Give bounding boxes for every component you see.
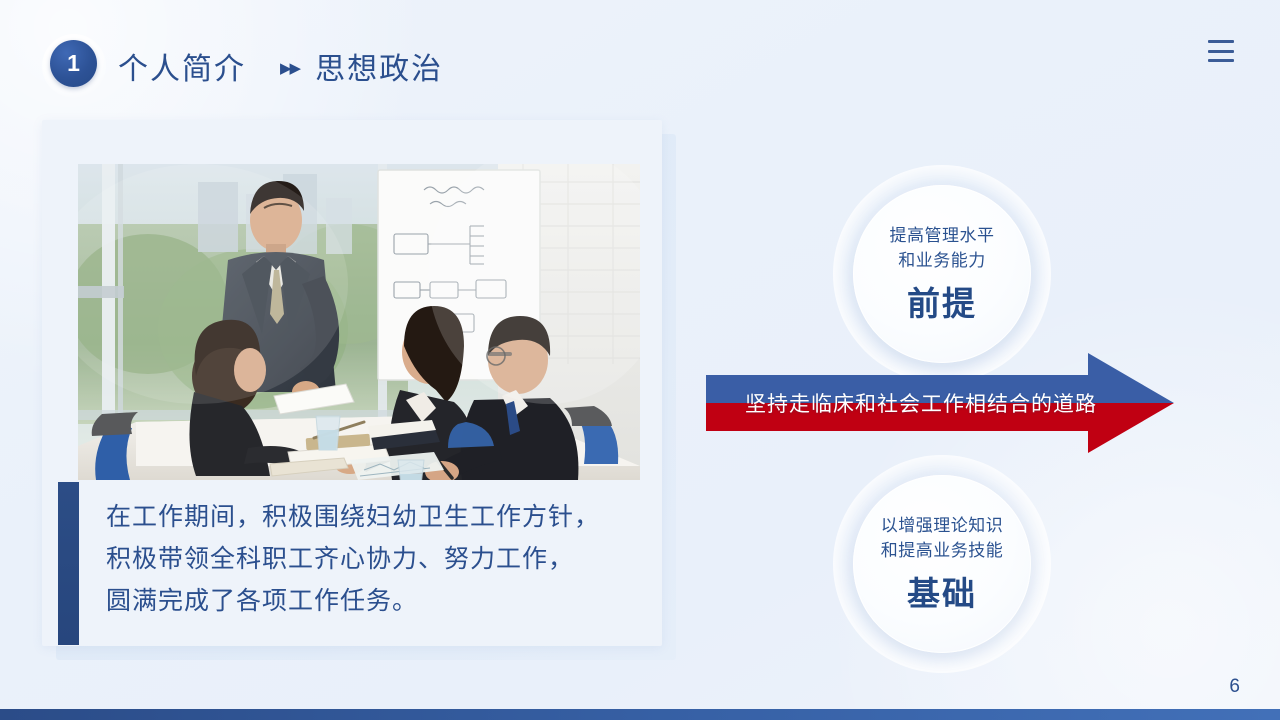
- double-chevron-right-icon: ▶▶: [280, 61, 299, 76]
- hamburger-menu-icon[interactable]: [1208, 40, 1234, 62]
- body-text-line-3: 圆满完成了各项工作任务。: [106, 580, 636, 622]
- footer-accent-bar: [0, 709, 1280, 720]
- badge-number: 1: [50, 40, 97, 87]
- menu-bar-3: [1208, 59, 1234, 62]
- page-subtitle: 思想政治: [315, 44, 443, 88]
- arrow-banner[interactable]: 坚持走临床和社会工作相结合的道路: [706, 353, 1174, 453]
- page-number: 6: [1229, 676, 1240, 698]
- body-text-line-1: 在工作期间，积极围绕妇幼卫生工作方针，: [106, 496, 636, 538]
- body-text-accent-bar: [58, 482, 79, 645]
- circle-subtitle: 提高管理水平 和业务能力: [890, 223, 995, 273]
- circle-keyword: 前提: [907, 277, 977, 325]
- slide-canvas: 1 个人简介 ▶▶ 思想政治: [0, 0, 1280, 720]
- arrow-label: 坚持走临床和社会工作相结合的道路: [706, 353, 1136, 453]
- concept-circle-premise[interactable]: 提高管理水平 和业务能力 前提: [833, 165, 1051, 383]
- menu-bar-2: [1208, 50, 1234, 53]
- circle-inner-disc: 提高管理水平 和业务能力 前提: [853, 185, 1031, 363]
- circle-keyword: 基础: [907, 567, 977, 615]
- breadcrumb: 个人简介 ▶▶ 思想政治: [118, 43, 443, 89]
- section-number-badge: 1: [42, 34, 106, 98]
- body-text-line-2: 积极带领全科职工齐心协力、努力工作，: [106, 538, 636, 580]
- concept-circle-foundation[interactable]: 以增强理论知识 和提高业务技能 基础: [833, 455, 1051, 673]
- business-meeting-photo: [78, 164, 640, 480]
- body-text: 在工作期间，积极围绕妇幼卫生工作方针， 积极带领全科职工齐心协力、努力工作， 圆…: [106, 496, 636, 622]
- menu-bar-1: [1208, 40, 1234, 43]
- slide-header: 1 个人简介 ▶▶ 思想政治: [0, 0, 1280, 118]
- circle-inner-disc: 以增强理论知识 和提高业务技能 基础: [853, 475, 1031, 653]
- circle-subtitle: 以增强理论知识 和提高业务技能: [881, 513, 1004, 563]
- page-title: 个人简介: [118, 44, 246, 88]
